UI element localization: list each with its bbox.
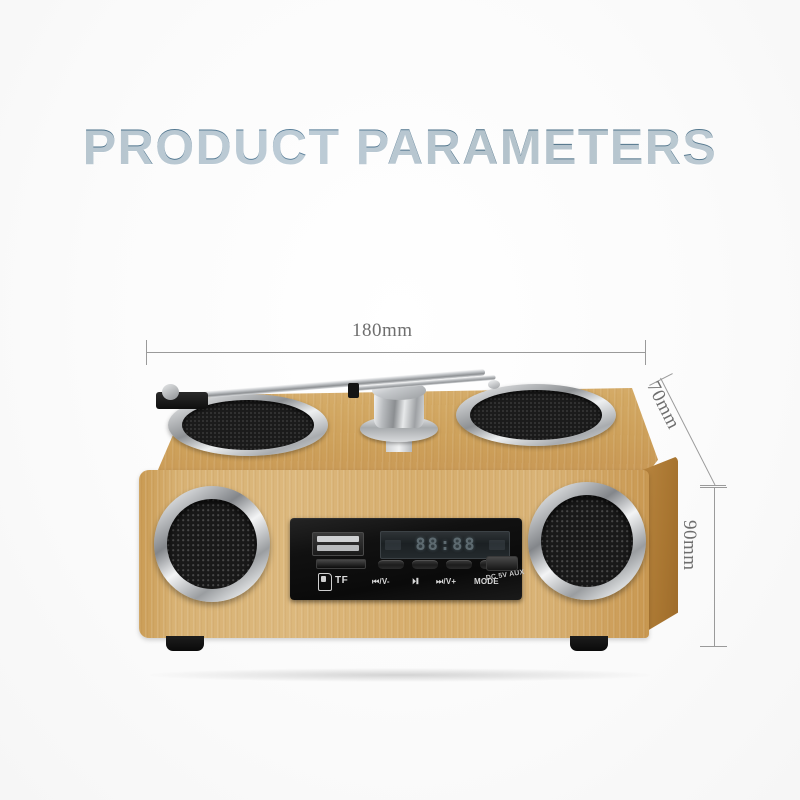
width-dimension-tick-right	[645, 340, 646, 365]
dc-aux-jack[interactable]	[486, 556, 518, 571]
depth-dimension-tick-bottom	[700, 485, 726, 486]
led-display-value: 88:88	[407, 535, 485, 555]
usb-port-icon[interactable]	[312, 532, 364, 556]
height-dimension-tick-top	[700, 487, 727, 488]
next-volume-up-button[interactable]	[446, 560, 472, 569]
page-title: PRODUCT PARAMETERS	[0, 118, 800, 176]
height-dimension-tick-bottom	[700, 646, 727, 647]
led-display: 88:88	[380, 531, 510, 559]
page-title-text: PRODUCT PARAMETERS	[83, 119, 717, 175]
height-dimension-label: 90mm	[678, 520, 700, 571]
front-speaker-right	[528, 482, 646, 600]
product-shadow	[150, 668, 650, 682]
prev-volume-down-label: ⏮/V-	[372, 577, 390, 587]
play-pause-label: ⏵❙	[412, 577, 419, 587]
page-canvas: PRODUCT PARAMETERS 180mm 70mm 90mm	[0, 0, 800, 800]
next-volume-up-label: ⏭/V+	[436, 577, 456, 587]
product-image: TF 88:88 ⏮/V- ⏵❙ ⏭/V+ MODE DC 5V AUX	[120, 370, 680, 670]
tf-card-slot[interactable]	[316, 559, 366, 569]
rubber-foot-left	[166, 636, 204, 651]
rubber-foot-right	[570, 636, 608, 651]
memory-card-icon	[318, 573, 332, 591]
antenna-clip	[348, 383, 359, 398]
led-left-indicator	[385, 540, 401, 550]
speaker-grille	[541, 495, 633, 587]
height-dimension-line	[714, 487, 715, 647]
control-panel: TF 88:88 ⏮/V- ⏵❙ ⏭/V+ MODE DC 5V AUX	[290, 518, 522, 600]
width-dimension-label: 180mm	[352, 320, 413, 342]
width-dimension-line	[146, 352, 646, 353]
led-right-indicator	[489, 540, 505, 550]
antenna-rod-lower	[170, 369, 486, 401]
front-speaker-left	[154, 486, 270, 602]
antenna-tip	[488, 380, 500, 389]
antenna-hinge	[162, 384, 179, 400]
prev-volume-down-button[interactable]	[378, 560, 404, 569]
speaker-grille	[167, 499, 257, 589]
telescopic-antenna[interactable]	[156, 370, 506, 410]
play-pause-button[interactable]	[412, 560, 438, 569]
width-dimension-tick-left	[146, 340, 147, 365]
tf-label: TF	[335, 575, 348, 586]
